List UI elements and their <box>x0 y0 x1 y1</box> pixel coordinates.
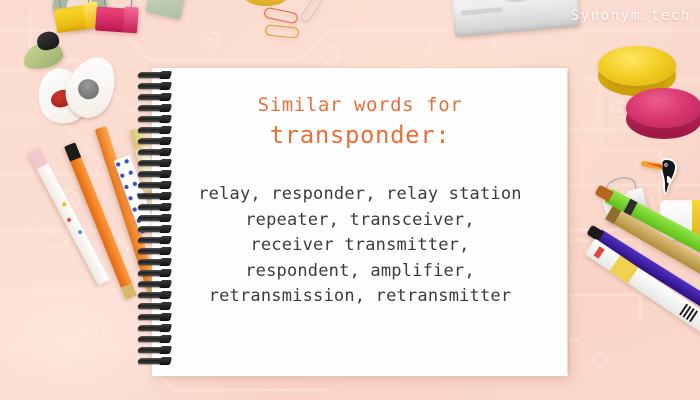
binder-clip-pink <box>95 1 141 36</box>
synonym-list: relay, responder, relay station repeater… <box>152 182 568 310</box>
synonym-line: retransmission, retransmitter <box>152 284 568 310</box>
card-content: Similar words for transponder: relay, re… <box>152 68 568 376</box>
synonym-line: relay, responder, relay station <box>152 182 568 208</box>
site-watermark: Synonym.tech <box>571 8 691 24</box>
title-headword: transponder: <box>152 120 568 150</box>
screenshot-canvas: Similar words for transponder: relay, re… <box>0 0 700 400</box>
synonym-line: receiver transmitter, <box>152 233 568 259</box>
title-line-1: Similar words for <box>152 93 568 117</box>
eraser-egg-gray-center <box>75 76 102 102</box>
card-title: Similar words for transponder: <box>152 68 568 150</box>
synonym-line: repeater, transceiver, <box>152 208 568 234</box>
synonym-line: respondent, amplifier, <box>152 259 568 285</box>
macaron-pink <box>626 88 700 142</box>
